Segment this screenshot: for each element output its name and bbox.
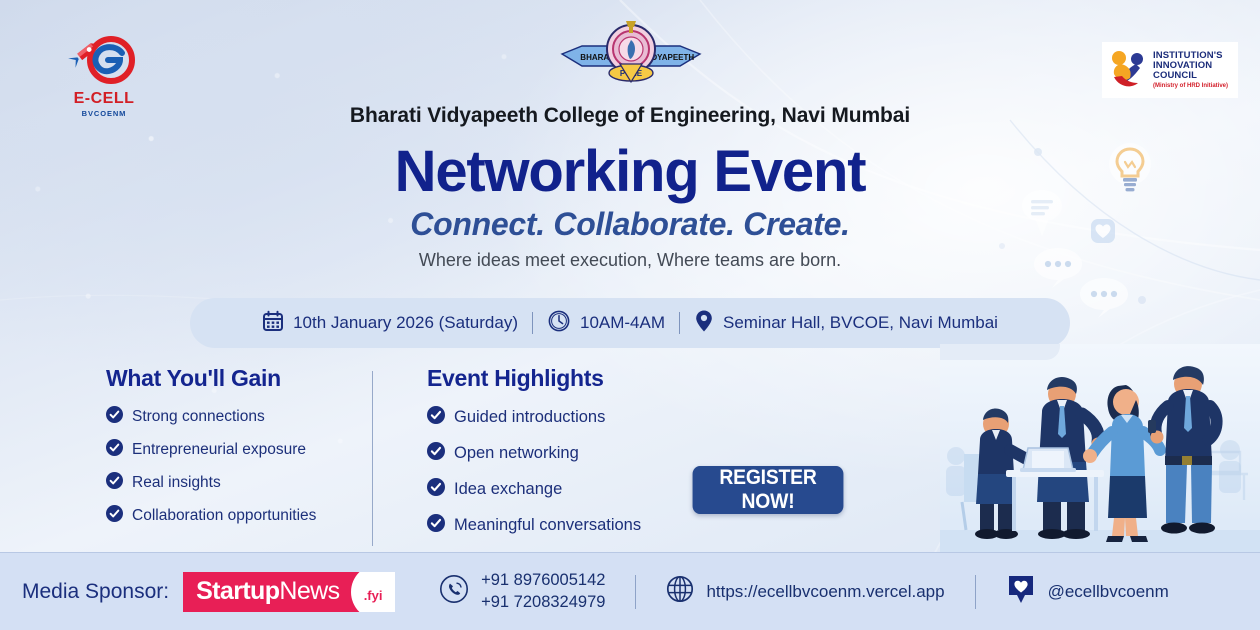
pill-divider-2 [679, 312, 680, 334]
startupnews-fyi-text: .fyi [364, 588, 383, 603]
column-event-highlights: Event Highlights Guided introductions Op… [373, 365, 673, 550]
iic-line3: COUNCIL [1153, 71, 1228, 81]
iic-people-logo-icon [1108, 49, 1148, 91]
phone-icon [439, 574, 469, 609]
website-url: https://ecellbvcoenm.vercel.app [706, 582, 944, 602]
detail-venue: Seminar Hall, BVCOE, Navi Mumbai [694, 309, 998, 338]
detail-date: 10th January 2026 (Saturday) [262, 310, 518, 337]
event-poster: E-CELL BVCOENM BHARATI VIDYAPEETH PUNE [0, 0, 1260, 630]
gain-item: Collaboration opportunities [106, 505, 372, 527]
startupnews-sponsor-logo[interactable]: StartupNews .fyi [183, 572, 395, 612]
iic-text: INSTITUTION'S INNOVATION COUNCIL (Minist… [1153, 51, 1228, 89]
event-details-bar: 10th January 2026 (Saturday) 10AM-4AM [190, 298, 1070, 348]
footer-phone[interactable]: +91 8976005142 +91 7208324979 [439, 570, 605, 613]
highlight-item-label: Open networking [454, 444, 579, 463]
detail-venue-text: Seminar Hall, BVCOE, Navi Mumbai [723, 313, 998, 333]
highlights-heading: Event Highlights [427, 365, 673, 392]
gain-item: Strong connections [106, 406, 372, 428]
highlight-item: Idea exchange [427, 478, 673, 501]
startupnews-name: StartupNews [196, 577, 339, 606]
detail-time-text: 10AM-4AM [580, 313, 665, 333]
footer-social[interactable]: @ecellbvcoenm [1006, 573, 1169, 610]
gain-item-label: Entrepreneurial exposure [132, 441, 306, 459]
highlight-item: Meaningful conversations [427, 514, 673, 537]
bharati-vidyapeeth-crest-icon: BHARATI VIDYAPEETH PUNE [556, 18, 706, 90]
highlight-item-label: Guided introductions [454, 408, 605, 427]
gain-item-label: Collaboration opportunities [132, 507, 316, 525]
highlight-item: Open networking [427, 442, 673, 465]
check-circle-icon [427, 478, 445, 501]
footer-divider-2 [975, 575, 976, 609]
footer-divider-1 [635, 575, 636, 609]
phone-1: +91 8976005142 [481, 570, 605, 591]
check-circle-icon [427, 514, 445, 537]
pill-divider-1 [532, 312, 533, 334]
gain-item-label: Real insights [132, 474, 221, 492]
ecell-rocket-logo-icon [64, 32, 144, 90]
iic-ministry: (Ministry of HRD Initiative) [1153, 83, 1228, 89]
info-columns: What You'll Gain Strong connections Entr… [106, 365, 673, 550]
clock-icon [547, 309, 571, 338]
sub-tagline: Where ideas meet execution, Where teams … [0, 250, 1260, 271]
media-sponsor-label: Media Sponsor: [22, 580, 169, 604]
detail-time: 10AM-4AM [547, 309, 665, 338]
check-circle-icon [106, 505, 123, 527]
gain-heading: What You'll Gain [106, 365, 372, 392]
calendar-icon [262, 310, 284, 337]
check-circle-icon [106, 406, 123, 428]
tagline: Connect. Collaborate. Create. [0, 206, 1260, 243]
heart-pin-icon [1006, 573, 1036, 610]
highlight-item: Guided introductions [427, 406, 673, 429]
illustration-notch [940, 344, 1060, 360]
highlight-item-label: Meaningful conversations [454, 516, 641, 535]
gain-item: Entrepreneurial exposure [106, 439, 372, 461]
check-circle-icon [106, 472, 123, 494]
check-circle-icon [427, 406, 445, 429]
social-handle: @ecellbvcoenm [1048, 582, 1169, 602]
phone-2: +91 7208324979 [481, 592, 605, 613]
page-title: Networking Event [0, 142, 1260, 203]
business-networking-illustration [940, 344, 1260, 552]
gain-item: Real insights [106, 472, 372, 494]
startupnews-bold: Startup [196, 577, 279, 605]
highlight-item-label: Idea exchange [454, 480, 562, 499]
startupnews-fyi-badge: .fyi [351, 572, 395, 612]
check-circle-icon [106, 439, 123, 461]
detail-date-text: 10th January 2026 (Saturday) [293, 313, 518, 333]
footer-website[interactable]: https://ecellbvcoenm.vercel.app [666, 575, 944, 608]
phone-numbers: +91 8976005142 +91 7208324979 [481, 570, 605, 613]
register-now-button[interactable]: REGISTER NOW! [693, 466, 844, 514]
college-name: Bharati Vidyapeeth College of Engineerin… [0, 104, 1260, 128]
gain-item-label: Strong connections [132, 408, 265, 426]
globe-icon [666, 575, 694, 608]
check-circle-icon [427, 442, 445, 465]
startupnews-light: News [279, 577, 339, 605]
column-what-youll-gain: What You'll Gain Strong connections Entr… [106, 365, 372, 550]
location-pin-icon [694, 309, 714, 338]
iic-logo: INSTITUTION'S INNOVATION COUNCIL (Minist… [1102, 42, 1238, 98]
footer-bar: Media Sponsor: StartupNews .fyi +91 8976… [0, 552, 1260, 630]
